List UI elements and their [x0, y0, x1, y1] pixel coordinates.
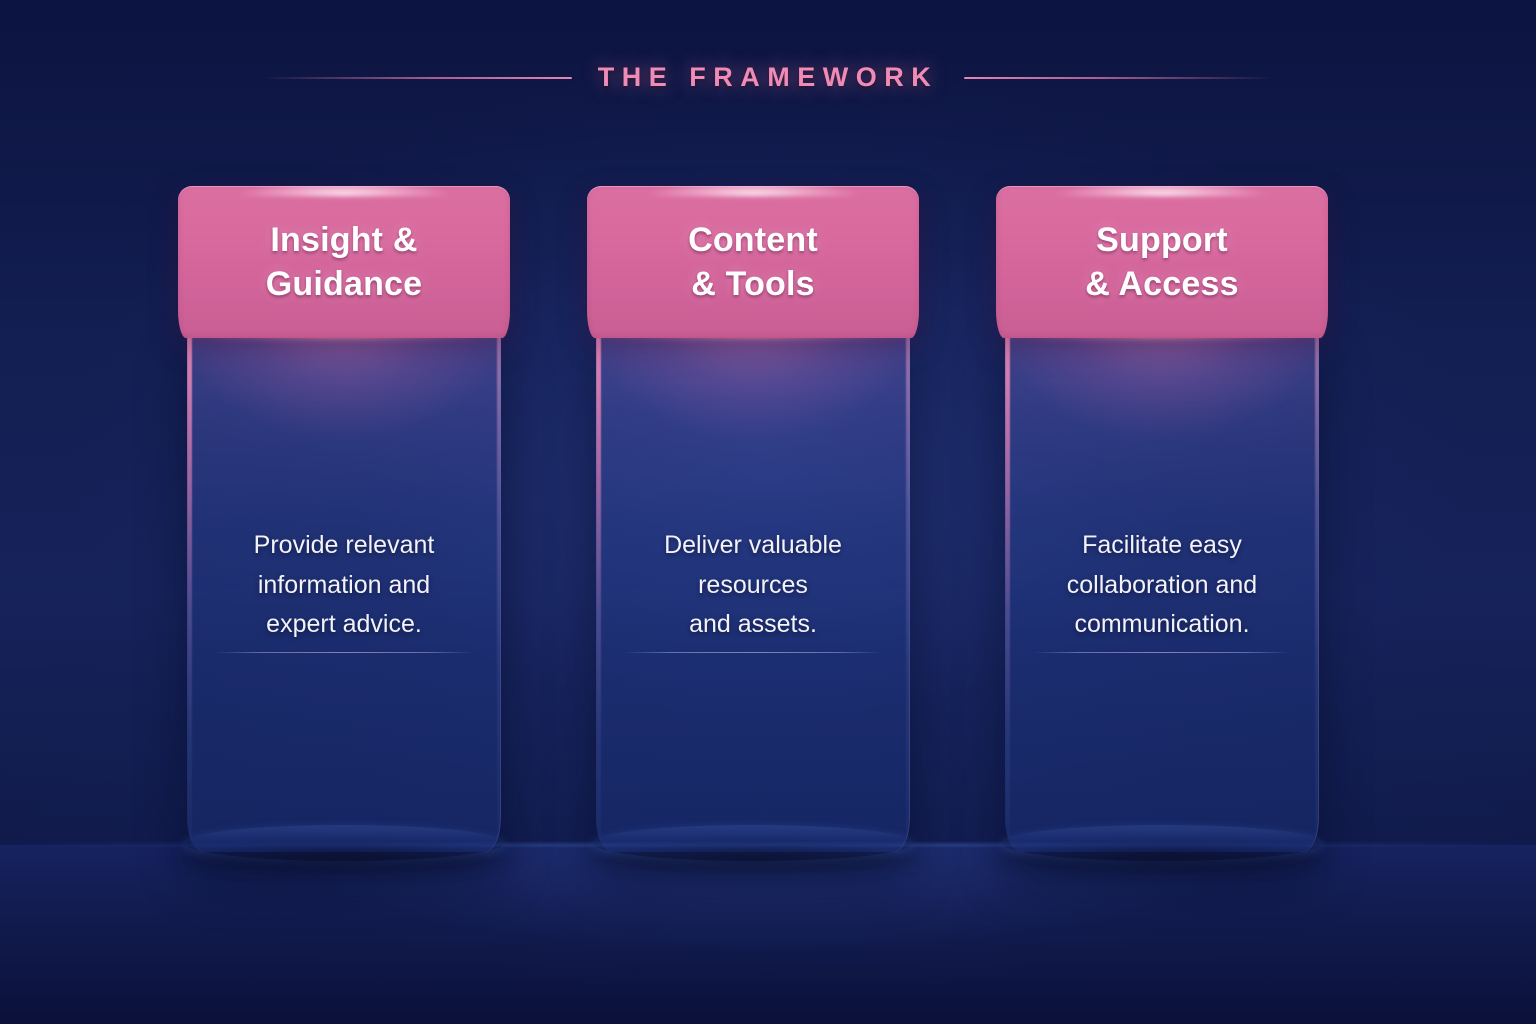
card-divider	[1033, 652, 1291, 653]
card-header[interactable]: Support & Access	[996, 186, 1328, 338]
card-header-specular	[1056, 186, 1269, 196]
card-header[interactable]: Content & Tools	[587, 186, 919, 338]
card-body-panel: Facilitate easy collaboration and commun…	[1005, 326, 1319, 852]
card-description: Facilitate easy collaboration and commun…	[1029, 526, 1295, 645]
card-title: Content & Tools	[674, 218, 832, 306]
floor-surface	[0, 845, 1536, 1024]
card-header-specular	[647, 186, 860, 196]
card-header-specular	[238, 186, 451, 196]
card-body-panel: Deliver valuable resources and assets.	[596, 326, 910, 852]
framework-card-row: Provide relevant information and expert …	[178, 186, 1328, 852]
card-title: Support & Access	[1071, 218, 1252, 306]
card-divider	[215, 652, 473, 653]
card-body-panel: Provide relevant information and expert …	[187, 326, 501, 852]
header-rule-left	[262, 77, 572, 79]
page-title: THE FRAMEWORK	[598, 62, 938, 93]
framework-infographic: THE FRAMEWORK Provide relevant informati…	[0, 0, 1536, 1024]
framework-card[interactable]: Provide relevant information and expert …	[178, 186, 510, 852]
card-title: Insight & Guidance	[252, 218, 437, 306]
card-description: Deliver valuable resources and assets.	[620, 526, 886, 645]
header-rule-right	[964, 77, 1274, 79]
card-divider	[624, 652, 882, 653]
card-description: Provide relevant information and expert …	[211, 526, 477, 645]
card-header[interactable]: Insight & Guidance	[178, 186, 510, 338]
section-header: THE FRAMEWORK	[0, 62, 1536, 93]
framework-card[interactable]: Deliver valuable resources and assets. C…	[587, 186, 919, 852]
framework-card[interactable]: Facilitate easy collaboration and commun…	[996, 186, 1328, 852]
